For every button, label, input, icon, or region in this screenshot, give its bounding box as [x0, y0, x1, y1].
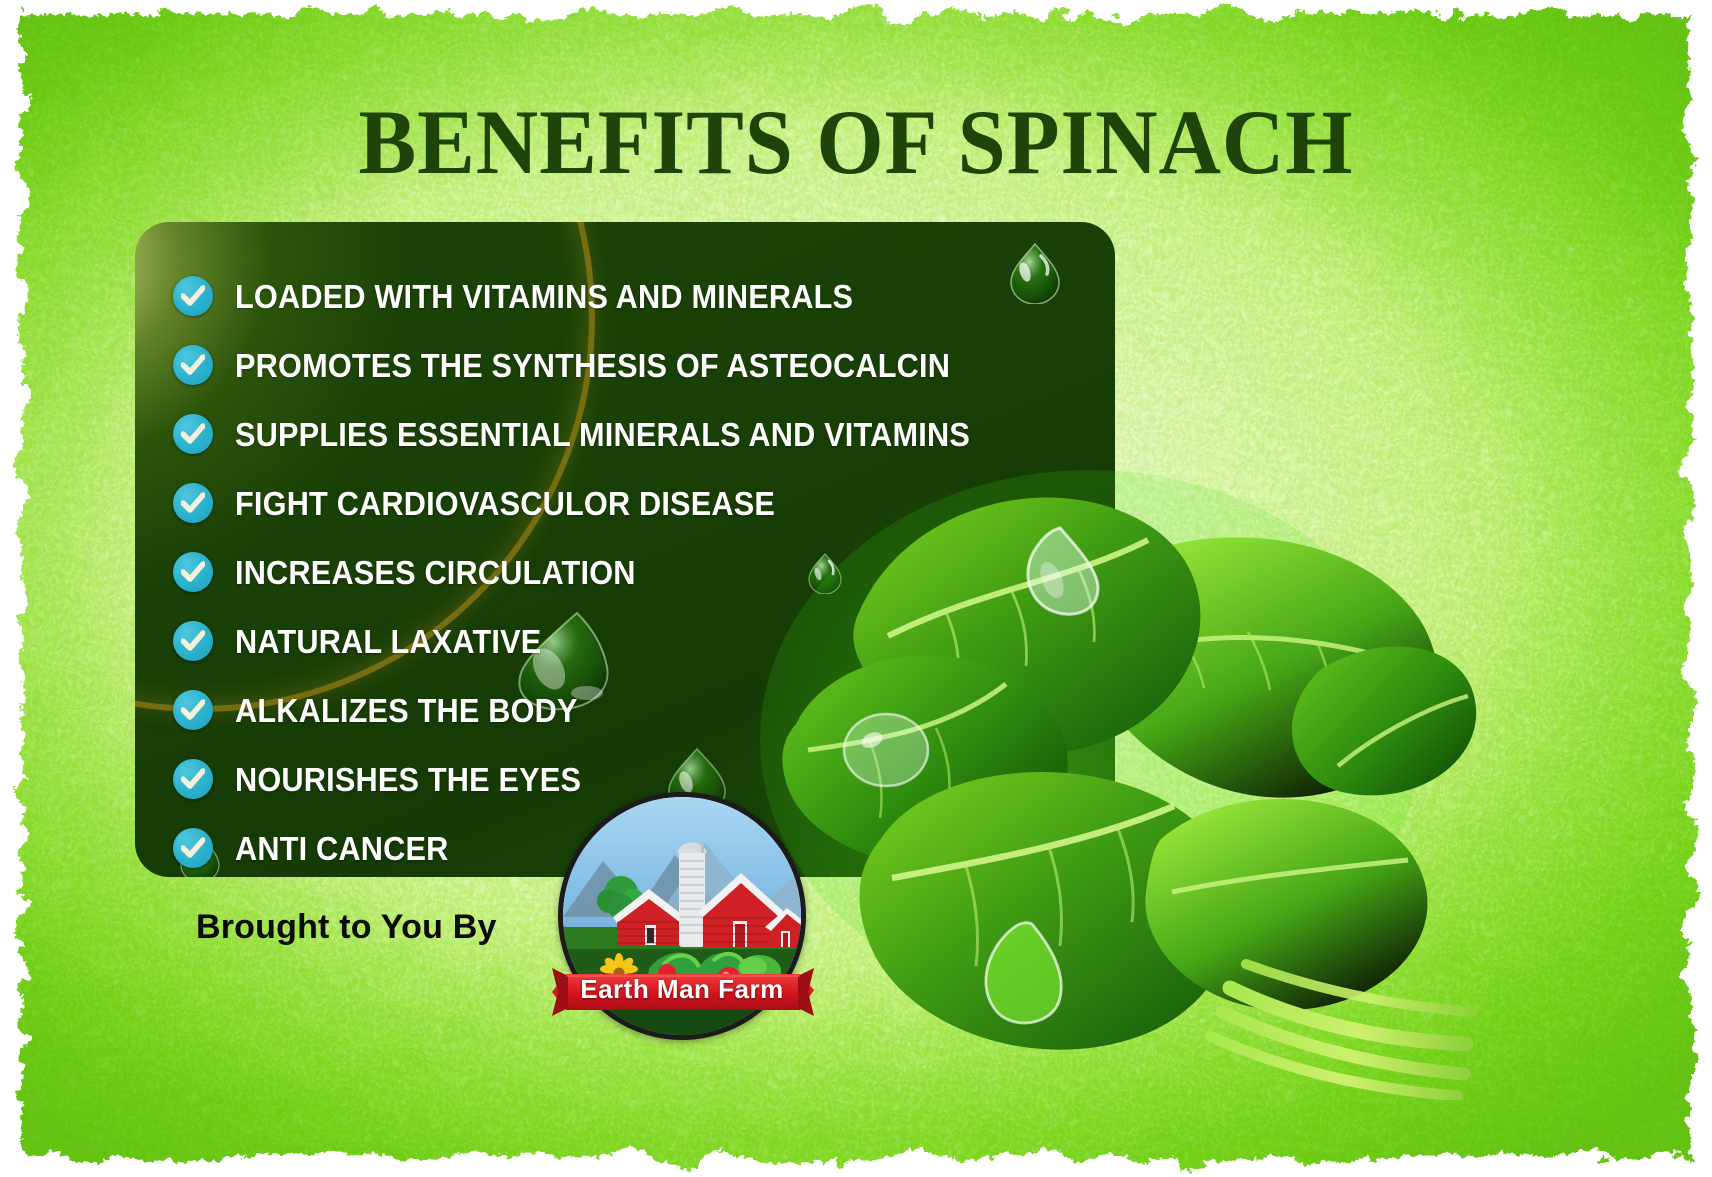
logo-scene	[563, 797, 801, 1035]
logo[interactable]: Earth Man Farm	[558, 792, 806, 1040]
benefit-label: PROMOTES THE SYNTHESIS OF ASTEOCALCIN	[235, 349, 950, 382]
list-item[interactable]: ALKALIZES THE BODY	[173, 676, 1113, 744]
benefit-label: NATURAL LAXATIVE	[235, 625, 541, 658]
check-circle-icon	[173, 621, 213, 661]
list-item[interactable]: PROMOTES THE SYNTHESIS OF ASTEOCALCIN	[173, 331, 1113, 399]
page-title: BENEFITS OF SPINACH	[51, 96, 1660, 188]
benefits-list: LOADED WITH VITAMINS AND MINERALS PROMOT…	[173, 262, 1113, 877]
list-item[interactable]: INCREASES CIRCULATION	[173, 538, 1113, 606]
attribution-label: Brought to You By	[196, 908, 497, 947]
check-circle-icon	[173, 345, 213, 385]
check-circle-icon	[173, 828, 213, 868]
check-circle-icon	[173, 414, 213, 454]
benefit-label: ALKALIZES THE BODY	[235, 694, 578, 727]
benefit-label: INCREASES CIRCULATION	[235, 556, 636, 589]
check-circle-icon	[173, 276, 213, 316]
list-item[interactable]: SUPPLIES ESSENTIAL MINERALS AND VITAMINS	[173, 400, 1113, 468]
check-circle-icon	[173, 483, 213, 523]
benefit-label: LOADED WITH VITAMINS AND MINERALS	[235, 280, 853, 313]
check-circle-icon	[173, 552, 213, 592]
check-circle-icon	[173, 690, 213, 730]
list-item[interactable]: NATURAL LAXATIVE	[173, 607, 1113, 675]
list-item[interactable]: FIGHT CARDIOVASCULOR DISEASE	[173, 469, 1113, 537]
benefit-label: NOURISHES THE EYES	[235, 763, 581, 796]
benefits-panel: LOADED WITH VITAMINS AND MINERALS PROMOT…	[135, 222, 1115, 877]
benefit-label: ANTI CANCER	[235, 832, 448, 865]
benefit-label: SUPPLIES ESSENTIAL MINERALS AND VITAMINS	[235, 418, 970, 451]
infographic-poster: BENEFITS OF SPINACH	[0, 0, 1712, 1177]
benefit-label: FIGHT CARDIOVASCULOR DISEASE	[235, 487, 775, 520]
check-circle-icon	[173, 759, 213, 799]
list-item[interactable]: LOADED WITH VITAMINS AND MINERALS	[173, 262, 1113, 330]
